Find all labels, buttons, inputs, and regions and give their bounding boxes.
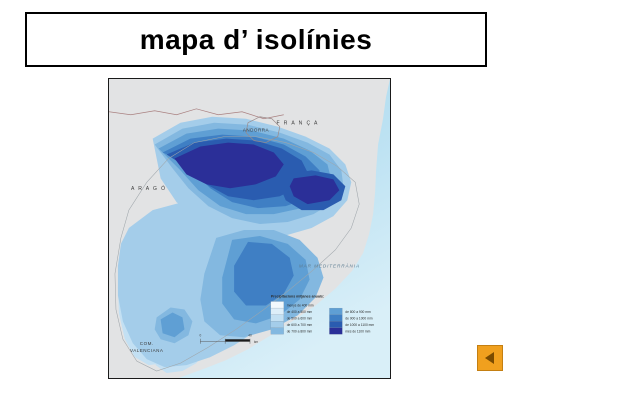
legend-swatch-gt1100 bbox=[329, 328, 342, 335]
triangle-left-icon bbox=[482, 350, 498, 366]
legend-label-700-800: de 700 a 800 mm bbox=[287, 330, 313, 334]
scale-bar-label-start: 0 bbox=[199, 333, 201, 337]
legend-label-400-500: de 400 a 500 mm bbox=[287, 310, 313, 314]
map-label-franca: F R A N Ç A bbox=[277, 121, 319, 127]
legend-swatch-800-900 bbox=[329, 308, 342, 315]
scale-bar-unit: km bbox=[254, 340, 259, 344]
title-box: mapa d’ isolínies bbox=[25, 12, 487, 67]
legend-label-600-700: de 600 a 700 mm bbox=[287, 323, 313, 327]
map-label-arago: A R A G Ó bbox=[131, 185, 167, 192]
legend-label-gt1100: més de 1100 mm bbox=[345, 330, 370, 334]
legend-swatch-700-800 bbox=[271, 328, 284, 335]
map-label-com-valenciana-line1: COM. bbox=[140, 341, 154, 346]
legend-label-500-600: de 500 a 600 mm bbox=[287, 317, 313, 321]
legend-label-900-1000: de 900 a 1000 mm bbox=[345, 317, 373, 321]
isoline-map: F R A N Ç A ANDORRA A R A G Ó COM. VALEN… bbox=[108, 78, 391, 379]
map-canvas: F R A N Ç A ANDORRA A R A G Ó COM. VALEN… bbox=[109, 79, 390, 378]
legend-label-800-900: de 800 a 900 mm bbox=[345, 310, 371, 314]
legend-swatch-1000-1100 bbox=[329, 321, 342, 328]
legend-title: Precipitacions mitjanes anuals: bbox=[271, 295, 324, 299]
legend-swatch-lt400 bbox=[271, 302, 284, 309]
scale-bar-fill bbox=[225, 339, 250, 341]
map-label-com-valenciana-line2: VALENCIANA bbox=[130, 348, 164, 353]
legend-swatch-600-700 bbox=[271, 321, 284, 328]
map-label-mar-mediterrania: MAR MEDITERRÀNIA bbox=[299, 263, 360, 269]
back-button[interactable] bbox=[477, 345, 503, 371]
legend-left-column: menys de 400 mm de 400 a 500 mm de 500 a… bbox=[271, 302, 314, 335]
page-title: mapa d’ isolínies bbox=[140, 24, 373, 56]
legend-swatch-500-600 bbox=[271, 315, 284, 322]
legend-label-1000-1100: de 1000 a 1100 mm bbox=[345, 323, 374, 327]
legend-swatch-900-1000 bbox=[329, 315, 342, 322]
legend-label-lt400: menys de 400 mm bbox=[287, 303, 314, 307]
scale-bar-label-end: 40 bbox=[248, 333, 252, 337]
map-label-andorra: ANDORRA bbox=[243, 128, 270, 133]
legend-swatch-400-500 bbox=[271, 308, 284, 315]
